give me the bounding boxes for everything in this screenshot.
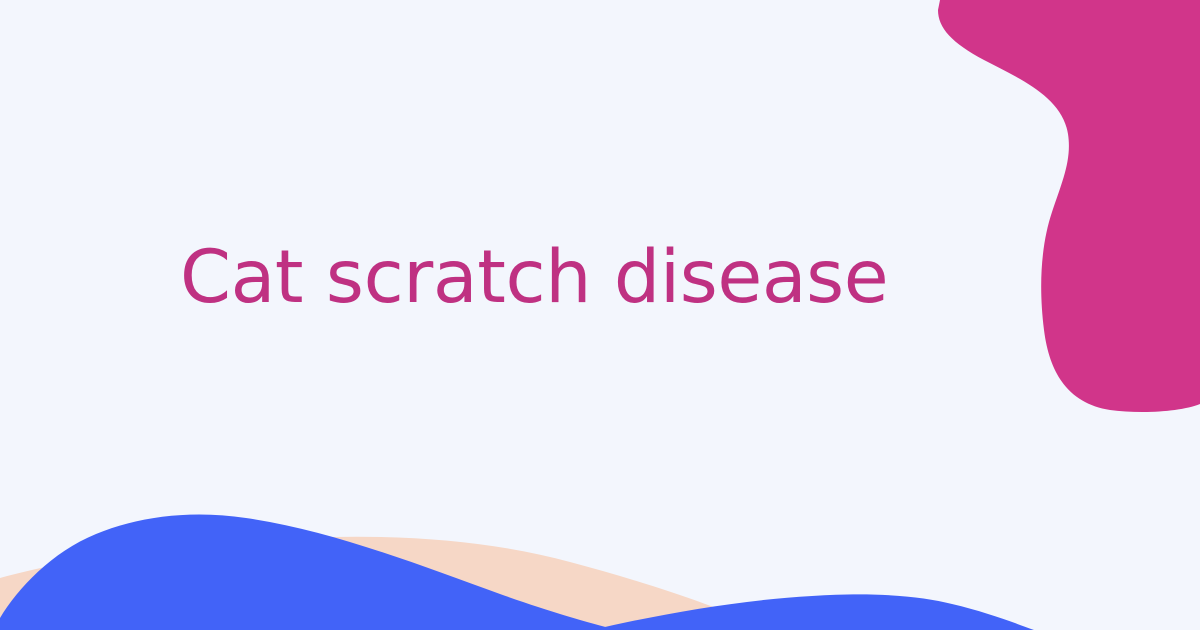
title-container: Cat scratch disease — [0, 0, 1200, 630]
page-title: Cat scratch disease — [180, 239, 888, 316]
title-card: Cat scratch disease — [0, 0, 1200, 630]
